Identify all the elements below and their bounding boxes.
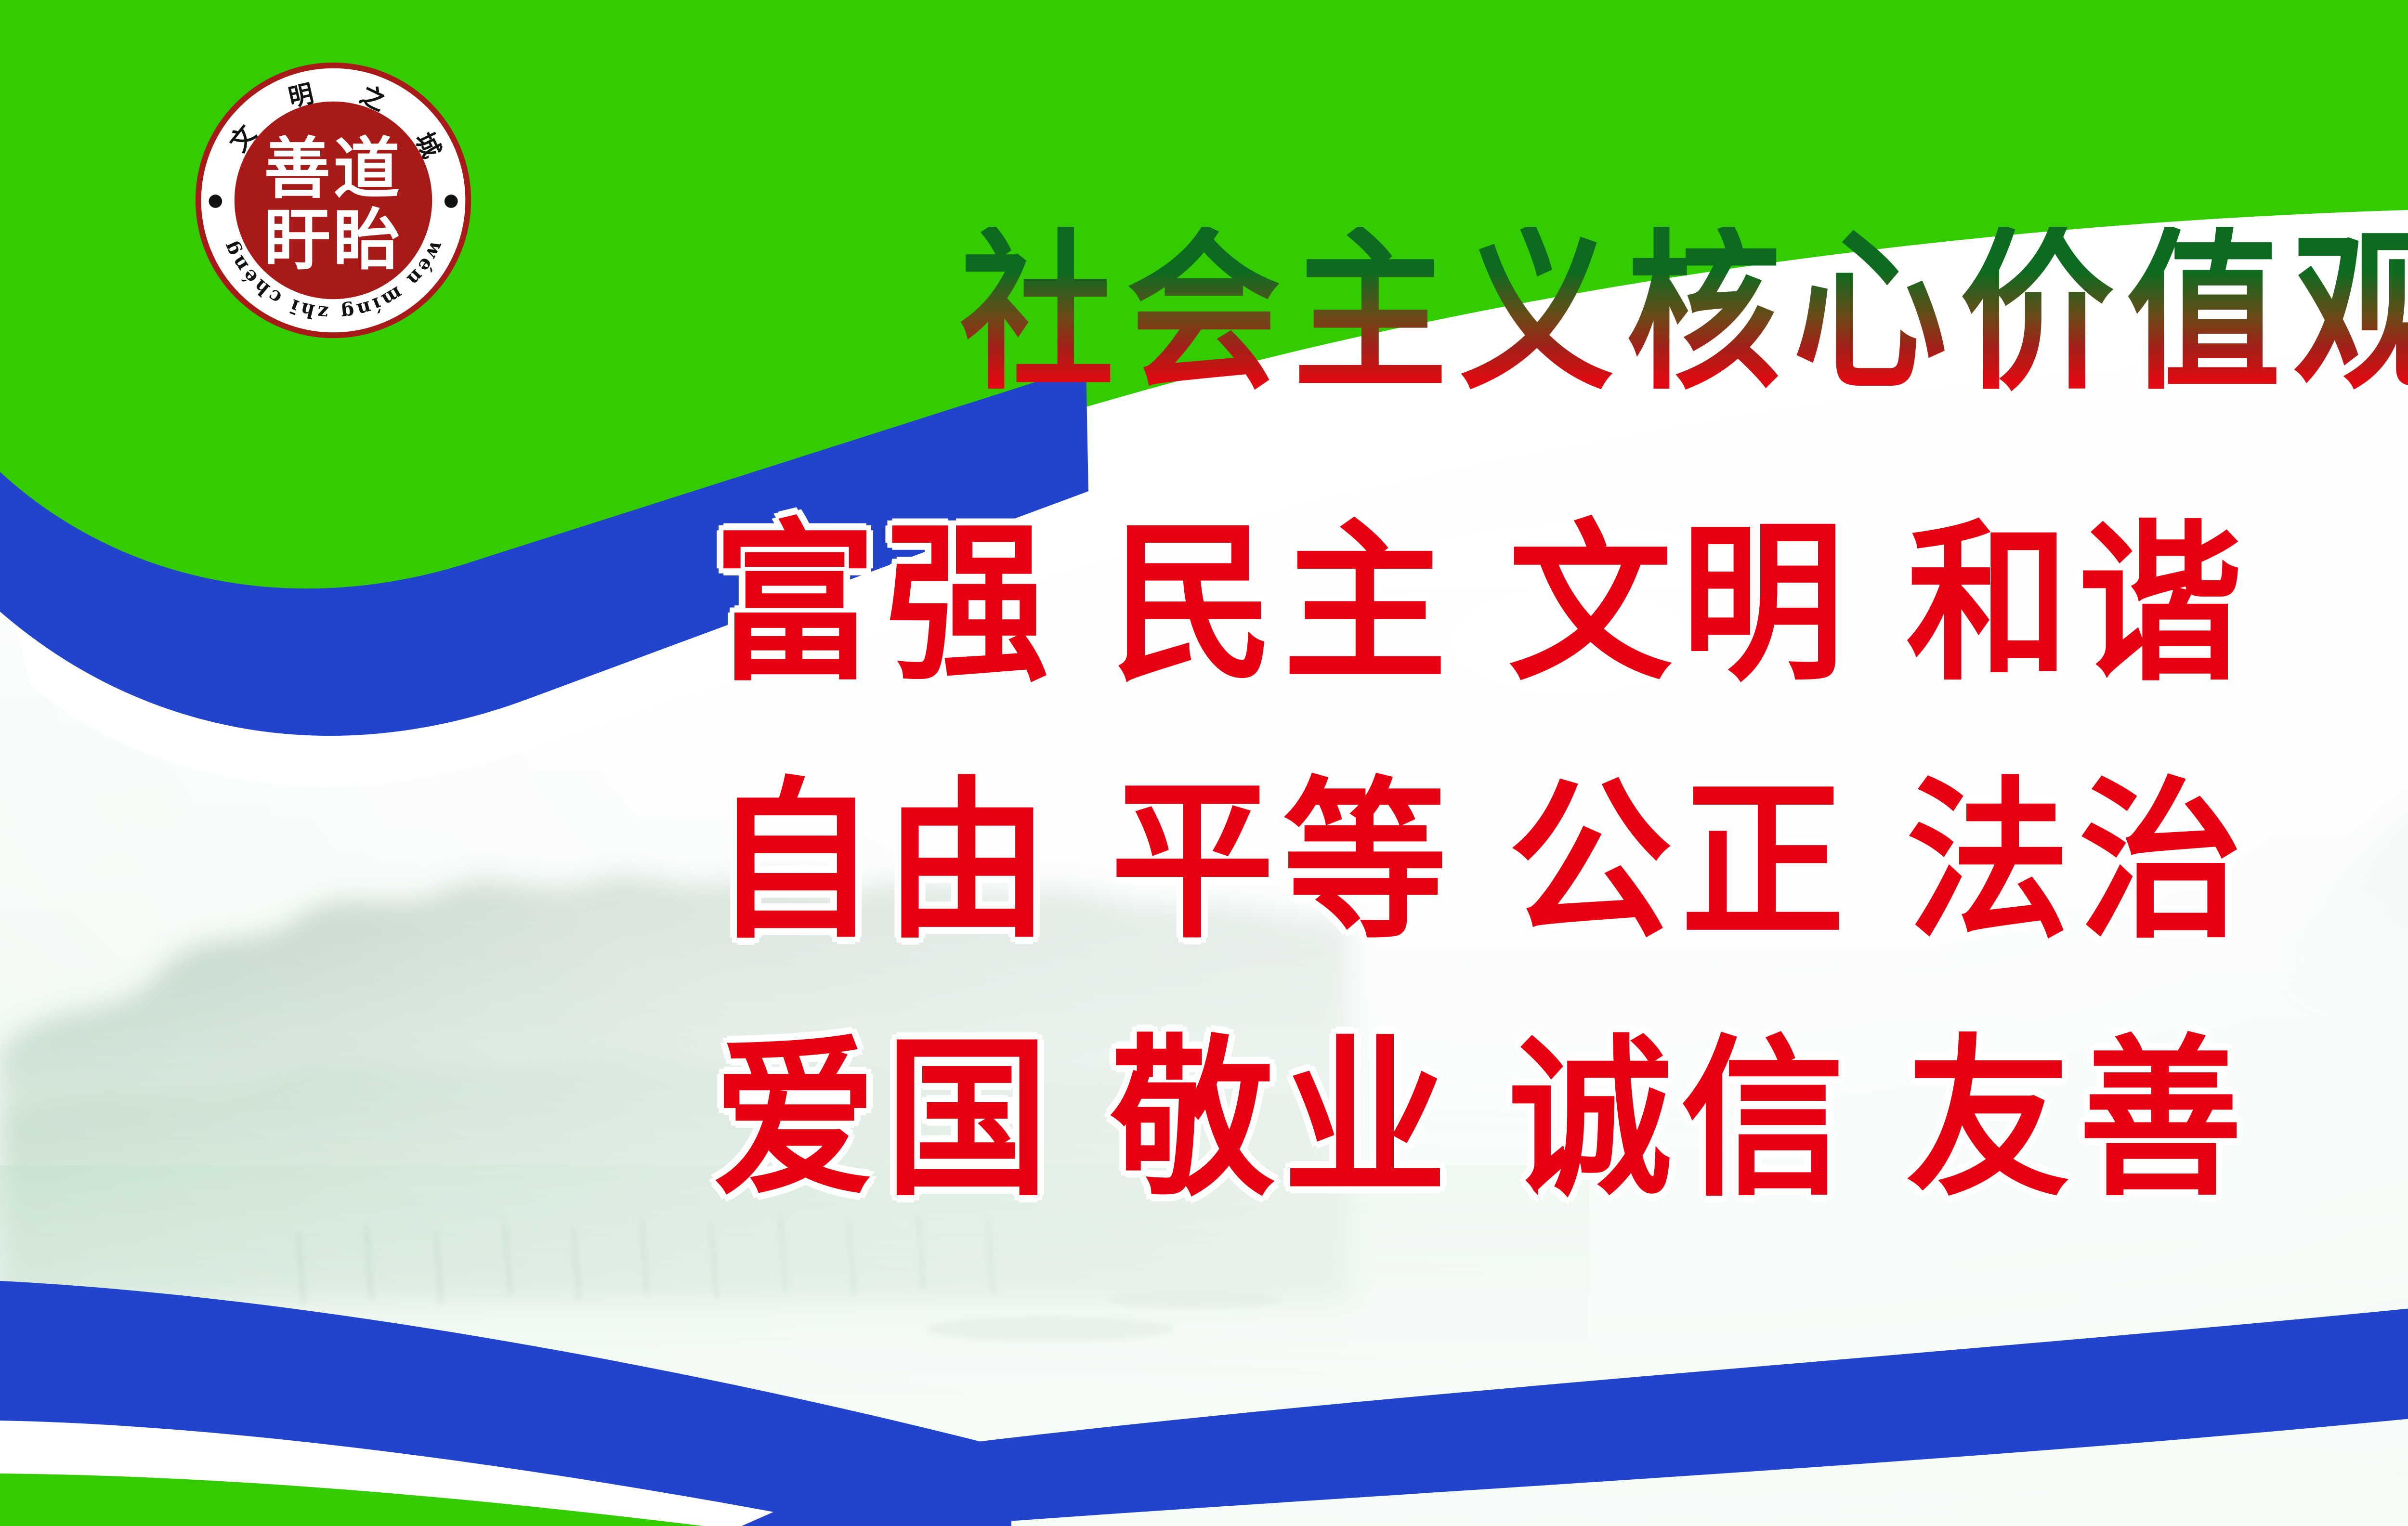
slogan-word: 民主 [1111,519,1455,691]
slogan-word: 爱国 [713,1034,1058,1206]
slogan-word: 法治 [1906,776,2251,948]
slogan-word: 和谐 [1906,519,2251,691]
main-title: 社会主义核心价值观 [819,212,2408,414]
slogan-line-2: 自由 平等 公正 法治 [713,758,2408,965]
slogan-word: 平等 [1111,776,1455,948]
slogan-word: 自由 [713,776,1058,948]
city-seal-logo: 文 明 之 城 wén míng zhī chéng 善道 盱眙 [191,58,476,343]
seal-dot-right [445,195,458,208]
slogan-word: 友善 [1906,1034,2251,1206]
seal-inner-line1: 善道 [264,130,403,208]
slogan-word: 诚信 [1508,1034,1853,1206]
slogan-word: 文明 [1508,519,1853,691]
slogan-word: 富强 [713,519,1058,691]
slogan-line-3: 爱国 敬业 诚信 友善 [713,1016,2408,1223]
slogan-line-1: 富强 民主 文明 和谐 [713,501,2408,708]
core-values-slogans: 富强 民主 文明 和谐 自由 平等 公正 法治 爱国 敬业 诚信 友善 [713,501,2408,1223]
ribbon-white-gap-bottom-left [0,1421,848,1526]
banner-board: 文 明 之 城 wén míng zhī chéng 善道 盱眙 社会主义核心价… [0,0,2408,1526]
slogan-word: 敬业 [1111,1034,1455,1206]
ribbon-blue-bottom-left [0,1281,1011,1526]
slogan-word: 公正 [1508,776,1853,948]
seal-dot-left [209,195,222,208]
seal-inner-line2: 盱眙 [264,201,403,279]
main-title-text: 社会主义核心价值观 [960,227,2408,399]
ribbon-green-bottom-left [0,1474,703,1526]
